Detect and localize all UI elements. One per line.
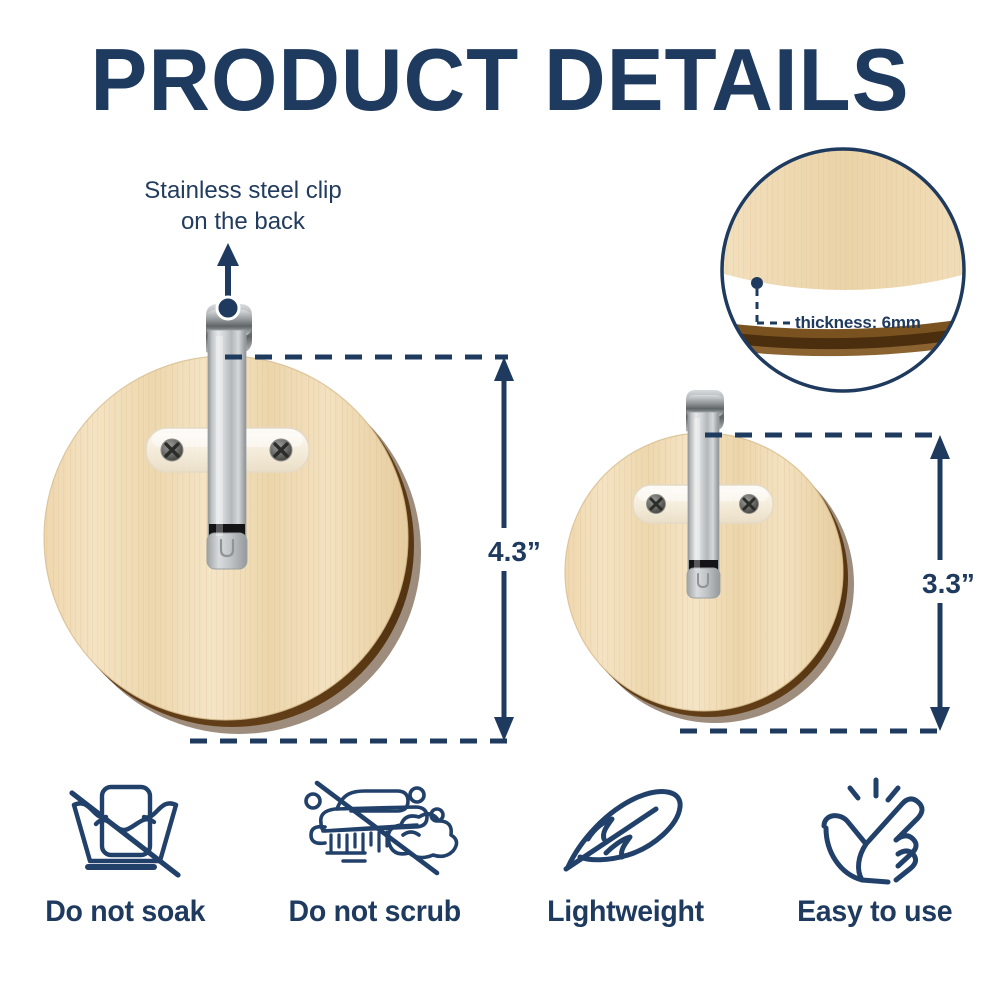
feather-icon: [550, 775, 700, 883]
thickness-label: thickness: 6mm: [795, 313, 921, 333]
feature-label-do-not-scrub: Do not scrub: [289, 895, 461, 929]
feature-label-do-not-soak: Do not soak: [45, 895, 205, 929]
large-plaque-group: [44, 304, 421, 734]
product-details-infographic: PRODUCT DETAILS Stainless steel clip on …: [0, 0, 1000, 1000]
feature-label-lightweight: Lightweight: [547, 895, 704, 929]
feature-lightweight: Lightweight: [500, 775, 750, 929]
large-stainless-steel-clip: [206, 304, 252, 569]
small-plaque-group: [565, 390, 854, 723]
no-soak-icon: [50, 775, 200, 883]
dimension-label-large: 4.3”: [484, 533, 545, 571]
snap-hand-icon: [800, 775, 950, 883]
no-scrub-icon: [291, 775, 459, 883]
feature-row: Do not soak: [0, 775, 1000, 929]
dimension-label-small: 3.3”: [918, 565, 979, 603]
thickness-zoom-circle: [510, 0, 1000, 397]
feature-easy-to-use: Easy to use: [750, 775, 1000, 929]
feature-do-not-scrub: Do not scrub: [250, 775, 500, 929]
feature-do-not-soak: Do not soak: [0, 775, 250, 929]
small-stainless-steel-clip: [686, 390, 724, 598]
feature-label-easy-to-use: Easy to use: [797, 895, 952, 929]
clip-callout-arrow: [217, 243, 239, 319]
